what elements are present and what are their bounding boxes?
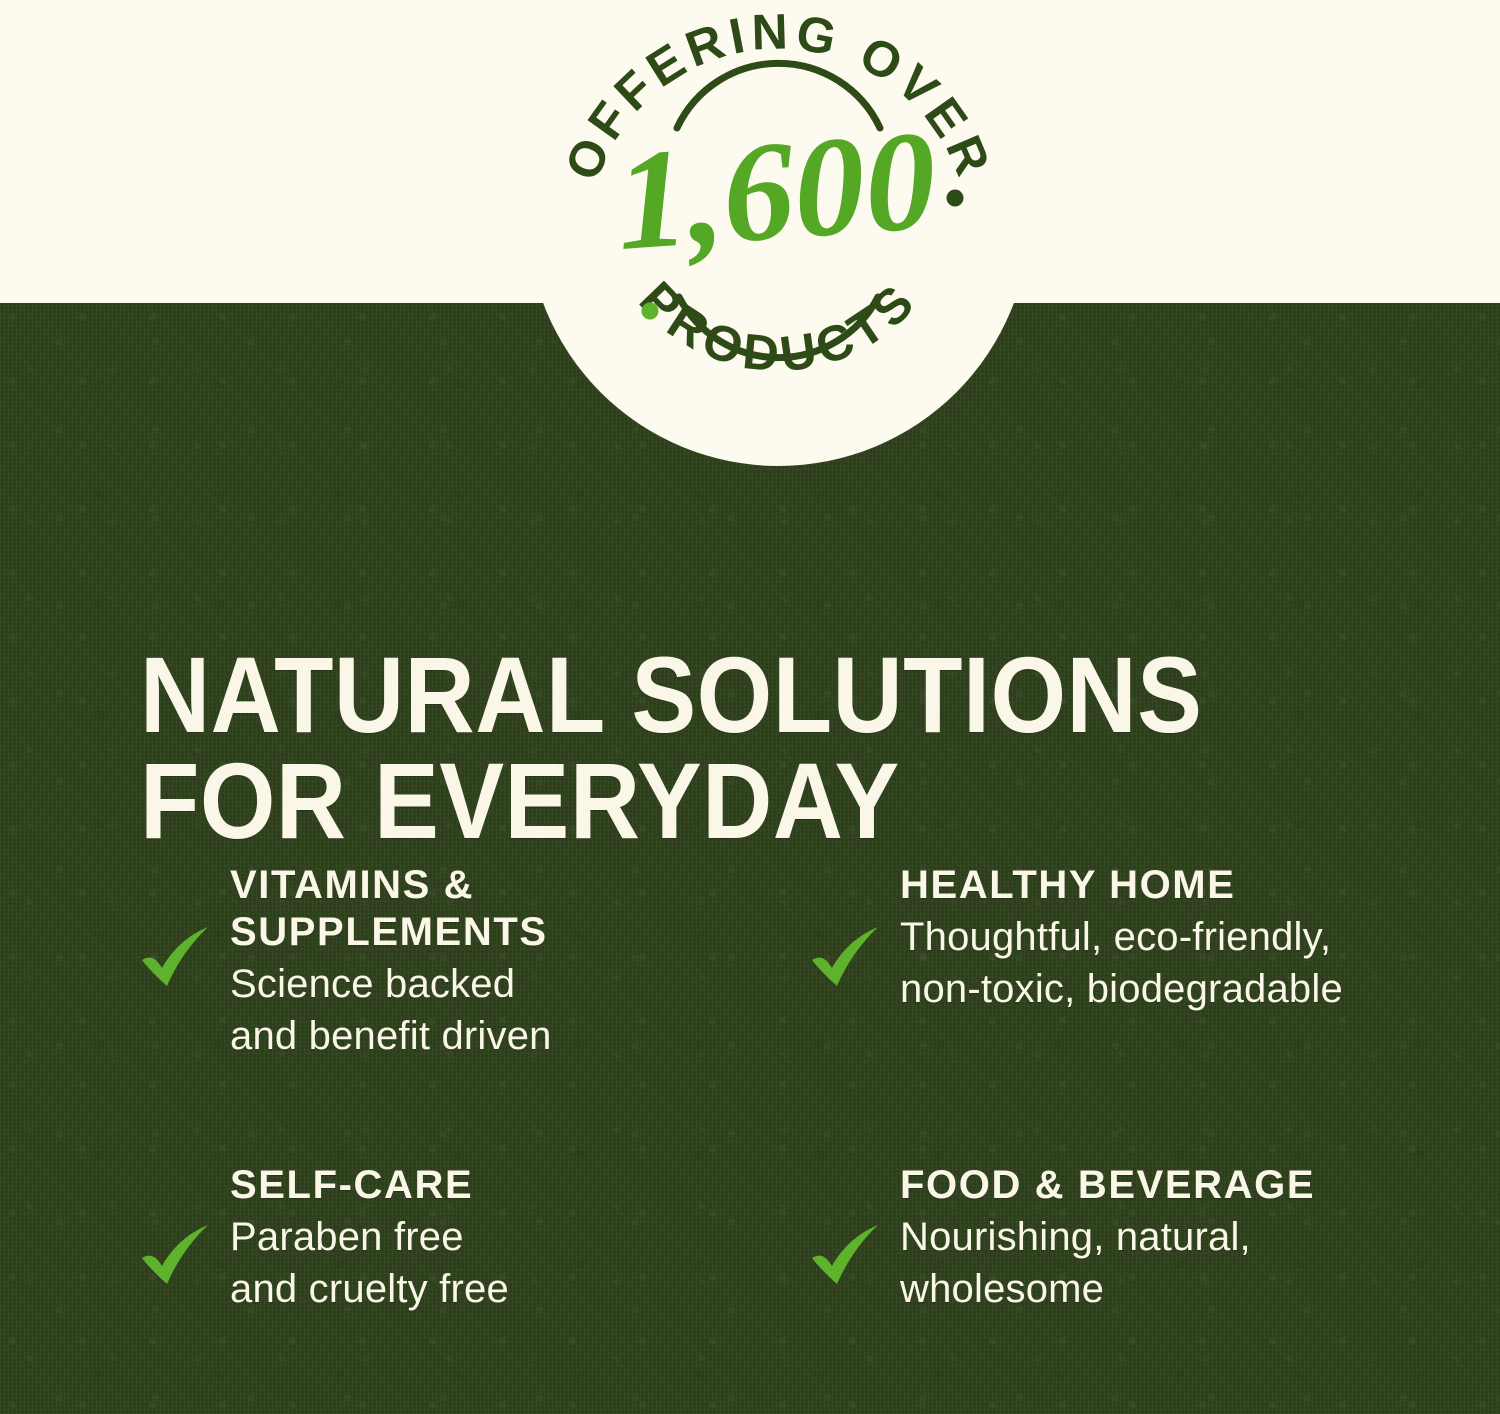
feature-item-healthy-home: HEALTHY HOME Thoughtful, eco-friendly, n… bbox=[800, 862, 1500, 1162]
feature-title-line-1: HEALTHY HOME bbox=[900, 863, 1236, 907]
check-icon bbox=[138, 924, 214, 990]
feature-description: Thoughtful, eco-friendly, non-toxic, bio… bbox=[900, 911, 1500, 1015]
feature-item-self-care: SELF-CARE Paraben free and cruelty free bbox=[130, 1162, 790, 1315]
check-icon bbox=[808, 1222, 884, 1288]
offering-products-badge: OFFERING OVER PRODUCTS 1,600 bbox=[527, 0, 1030, 466]
feature-desc-line-1: Paraben free bbox=[230, 1211, 790, 1263]
feature-title: FOOD & BEVERAGE bbox=[900, 1162, 1500, 1209]
page-title: NATURAL SOLUTIONS FOR EVERYDAY bbox=[140, 642, 1274, 854]
feature-desc-line-2: and benefit driven bbox=[230, 1010, 790, 1062]
feature-item-food-beverage: FOOD & BEVERAGE Nourishing, natural, who… bbox=[800, 1162, 1500, 1315]
feature-grid: VITAMINS & SUPPLEMENTS Science backed an… bbox=[0, 862, 1500, 1315]
feature-desc-line-1: Thoughtful, eco-friendly, bbox=[900, 911, 1500, 963]
feature-title-line-1: VITAMINS & bbox=[230, 863, 474, 907]
headline-line-2: FOR EVERYDAY bbox=[140, 748, 1274, 854]
feature-desc-line-1: Science backed bbox=[230, 958, 790, 1010]
feature-title: VITAMINS & SUPPLEMENTS bbox=[230, 862, 790, 956]
feature-desc-line-2: and cruelty free bbox=[230, 1263, 790, 1315]
feature-desc-line-2: non-toxic, biodegradable bbox=[900, 963, 1500, 1015]
feature-description: Paraben free and cruelty free bbox=[230, 1211, 790, 1315]
check-icon bbox=[808, 924, 884, 990]
feature-title: SELF-CARE bbox=[230, 1162, 790, 1209]
feature-title-line-1: FOOD & BEVERAGE bbox=[900, 1163, 1315, 1207]
feature-description: Science backed and benefit driven bbox=[230, 958, 790, 1062]
badge-arc-bottom-text: PRODUCTS bbox=[629, 271, 928, 383]
feature-description: Nourishing, natural, wholesome bbox=[900, 1211, 1500, 1315]
feature-desc-line-1: Nourishing, natural, bbox=[900, 1211, 1500, 1263]
feature-title-line-1: SELF-CARE bbox=[230, 1163, 473, 1207]
check-icon bbox=[138, 1222, 214, 1288]
feature-title-line-2: SUPPLEMENTS bbox=[230, 910, 548, 954]
badge-count-text: 1,600 bbox=[611, 100, 941, 280]
badge-dot-left bbox=[642, 303, 659, 320]
feature-item-vitamins-supplements: VITAMINS & SUPPLEMENTS Science backed an… bbox=[130, 862, 790, 1162]
badge-dot-right bbox=[947, 190, 964, 207]
headline-line-1: NATURAL SOLUTIONS bbox=[140, 642, 1274, 748]
promo-poster: OFFERING OVER PRODUCTS 1,600 NATURAL SOL… bbox=[0, 0, 1500, 1414]
feature-title: HEALTHY HOME bbox=[900, 862, 1500, 909]
feature-desc-line-2: wholesome bbox=[900, 1263, 1500, 1315]
